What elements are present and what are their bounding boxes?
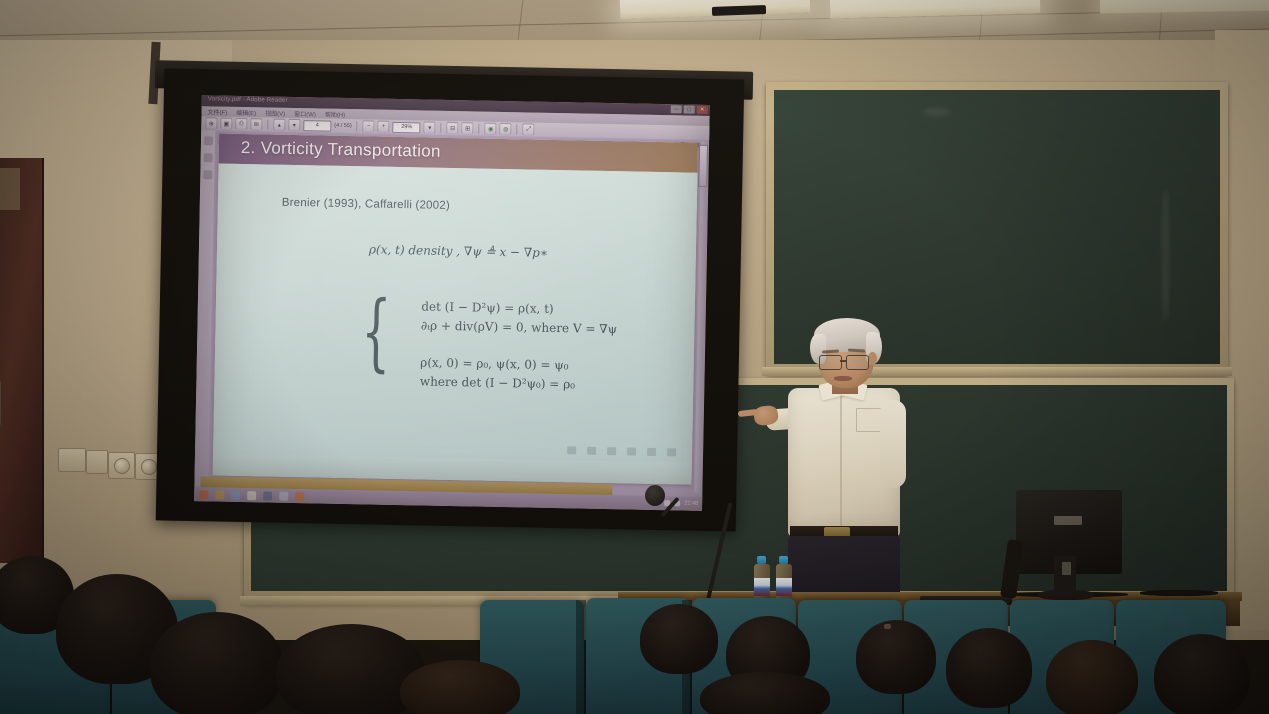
zoom-level-input[interactable]: 29% xyxy=(393,121,421,133)
door-handle-icon[interactable] xyxy=(0,380,1,426)
hair-clip xyxy=(884,624,891,629)
minimize-button[interactable]: — xyxy=(671,105,682,113)
navigation-sidebar[interactable] xyxy=(194,130,215,485)
window-controls[interactable]: — ▢ ✕ xyxy=(671,105,708,114)
slide-page: 2. Vorticity Transportation Brenier (199… xyxy=(213,134,698,485)
chalk-smudge xyxy=(924,108,950,116)
projection-screen-frame: Vorticity.pdf - Adobe Reader — ▢ ✕ 文件(F)… xyxy=(156,68,745,531)
media-icon[interactable] xyxy=(247,491,256,500)
monitor-label xyxy=(1054,516,1082,525)
fullscreen-icon[interactable]: ⤢ xyxy=(523,123,535,135)
entrance-door[interactable] xyxy=(0,158,44,563)
prev-page-icon[interactable] xyxy=(587,447,596,455)
arrow-down-icon[interactable]: ▾ xyxy=(288,119,300,131)
slide-equation-system: { det (I − D²ψ) = ρ(x, t) ∂ₜρ + div(ρV) … xyxy=(360,292,617,392)
email-icon[interactable]: ✉ xyxy=(250,118,262,130)
back-icon[interactable] xyxy=(607,447,616,455)
fit-width-icon[interactable]: ⊟ xyxy=(447,122,459,134)
comment-icon[interactable]: ◉ xyxy=(485,123,497,135)
wall-light-switches[interactable] xyxy=(58,448,86,472)
eyeglasses-right-lens xyxy=(846,355,869,370)
menu-window[interactable]: 窗口(W) xyxy=(294,108,316,117)
desk-cable xyxy=(1140,590,1218,596)
shirt-placket xyxy=(840,392,842,532)
wall-light-switches[interactable] xyxy=(86,450,108,474)
plus-icon[interactable]: + xyxy=(378,121,390,133)
toolbar-separator xyxy=(479,124,480,134)
browser-icon[interactable] xyxy=(231,490,240,499)
forward-icon[interactable] xyxy=(627,447,636,455)
chalk-smudge xyxy=(1162,190,1169,320)
eyeglasses-bridge xyxy=(840,360,846,362)
toolbar-separator xyxy=(357,121,358,131)
next-page-icon[interactable] xyxy=(647,448,656,456)
slide-body: Brenier (1993), Caffarelli (2002) ρ(x, t… xyxy=(213,164,697,463)
monitor-foot xyxy=(1038,590,1094,600)
door-window xyxy=(0,168,20,210)
ceiling-projector-mount xyxy=(712,5,766,16)
arrow-up-icon[interactable]: ▴ xyxy=(273,119,285,131)
taskbar-clock: 21:48 xyxy=(684,501,698,507)
bookmarks-panel-icon[interactable] xyxy=(203,153,212,162)
audience-head xyxy=(856,620,936,694)
dimmer-knob-icon[interactable] xyxy=(141,459,157,475)
eyeglasses-left-lens xyxy=(819,355,842,370)
bottle-cap xyxy=(779,556,788,564)
toolbar-separator xyxy=(267,119,268,129)
system-brace: { xyxy=(360,292,391,388)
audience-head xyxy=(1154,634,1250,714)
seat-divider xyxy=(576,600,586,714)
monitor-port xyxy=(1062,562,1071,575)
equation-3: ρ(x, 0) = ρ₀, ψ(x, 0) = ψ₀ xyxy=(420,355,616,373)
slide-title: 2. Vorticity Transportation xyxy=(241,138,441,162)
close-button[interactable]: ✕ xyxy=(697,106,708,114)
equation-4: where det (I − D²ψ₀) = ρ₀ xyxy=(420,374,616,392)
slide-citation: Brenier (1993), Caffarelli (2002) xyxy=(282,197,450,212)
window-title: Vorticity.pdf - Adobe Reader xyxy=(208,96,288,104)
bottle-label xyxy=(776,578,792,596)
bottle-cap xyxy=(757,556,766,564)
highlight-icon[interactable]: ◍ xyxy=(500,123,512,135)
toolbar-separator xyxy=(517,124,518,134)
presenter-right-arm xyxy=(880,400,906,488)
presenter-ear xyxy=(868,352,877,365)
page-number-input[interactable]: 4 xyxy=(303,120,331,132)
active-window-icon[interactable] xyxy=(295,492,304,501)
audience-head xyxy=(400,660,520,714)
audience-head xyxy=(150,612,284,714)
toolbar-separator xyxy=(441,123,442,133)
menu-file[interactable]: 文件(F) xyxy=(207,107,227,116)
save-icon[interactable]: ▣ xyxy=(220,118,232,130)
first-page-icon[interactable] xyxy=(567,446,576,454)
pdf-reader-window[interactable]: Vorticity.pdf - Adobe Reader — ▢ ✕ 文件(F)… xyxy=(194,95,710,511)
dimmer-knob-icon[interactable] xyxy=(114,458,130,474)
print-icon[interactable]: ⎙ xyxy=(235,118,247,130)
audience-head xyxy=(640,604,718,674)
scrollbar-thumb[interactable] xyxy=(698,145,708,187)
pages-panel-icon[interactable] xyxy=(203,136,212,145)
audience-head xyxy=(946,628,1032,708)
projection-screen[interactable]: Vorticity.pdf - Adobe Reader — ▢ ✕ 文件(F)… xyxy=(194,95,710,511)
maximize-button[interactable]: ▢ xyxy=(684,105,695,113)
menu-view[interactable]: 视图(V) xyxy=(265,108,285,117)
equation-2: ∂ₜρ + div(ρV) = 0, where V = ∇ψ xyxy=(421,318,617,336)
equation-1: det (I − D²ψ) = ρ(x, t) xyxy=(421,299,617,317)
presenter-mouth xyxy=(834,376,852,381)
chevron-down-icon[interactable]: ▾ xyxy=(424,121,436,133)
page-total-label: (4 / 55) xyxy=(334,123,352,129)
audience-head xyxy=(1046,640,1138,714)
explorer-icon[interactable] xyxy=(215,490,224,499)
start-icon[interactable] xyxy=(199,490,208,499)
slide-density-line: ρ(x, t) density , ∇ψ ≜ x − ∇p∗ xyxy=(369,242,548,259)
slides-icon[interactable] xyxy=(279,491,288,500)
minus-icon[interactable]: − xyxy=(363,120,375,132)
wall-dimmer-plate[interactable] xyxy=(108,452,135,479)
lecture-hall-scene: Vorticity.pdf - Adobe Reader — ▢ ✕ 文件(F)… xyxy=(0,0,1269,714)
system-equations: det (I − D²ψ) = ρ(x, t) ∂ₜρ + div(ρV) = … xyxy=(420,293,618,392)
pdf-icon[interactable] xyxy=(263,491,272,500)
slide-navigation-icons[interactable] xyxy=(567,446,676,456)
bottle-label xyxy=(754,578,770,596)
open-folder-icon[interactable]: ⊕ xyxy=(205,117,217,129)
fit-page-icon[interactable]: ⊞ xyxy=(462,122,474,134)
attachments-panel-icon[interactable] xyxy=(203,170,212,179)
menu-help[interactable]: 帮助(H) xyxy=(325,109,346,118)
menu-edit[interactable]: 编辑(E) xyxy=(236,107,256,116)
gooseneck-microphone[interactable] xyxy=(645,485,665,506)
last-page-icon[interactable] xyxy=(667,448,676,456)
